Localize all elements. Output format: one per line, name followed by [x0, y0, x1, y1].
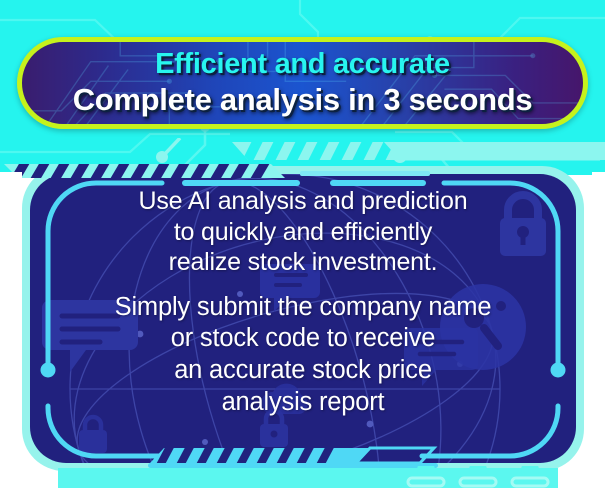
paragraph-1-line-1: Use AI analysis and prediction — [30, 186, 576, 217]
paragraph-2-line-4: analysis report — [30, 387, 576, 419]
paragraph-2: Simply submit the company name or stock … — [30, 292, 576, 420]
top-hatch-decoration — [0, 138, 605, 182]
panel-copy: Use AI analysis and prediction to quickl… — [30, 186, 576, 419]
paragraph-2-line-3: an accurate stock price — [30, 355, 576, 387]
promo-card: Efficient and accurate Complete analysis… — [0, 0, 605, 488]
bottom-accent-bar — [58, 466, 605, 488]
left-gutter — [0, 172, 22, 488]
paragraph-1-line-2: to quickly and efficiently — [30, 217, 576, 248]
paragraph-1-line-3: realize stock investment. — [30, 247, 576, 278]
right-gutter — [592, 172, 605, 488]
banner-title-line-2: Complete analysis in 3 seconds — [73, 83, 533, 117]
paragraph-2-line-2: or stock code to receive — [30, 323, 576, 355]
paragraph-1: Use AI analysis and prediction to quickl… — [30, 186, 576, 278]
banner-title-line-1: Efficient and accurate — [155, 49, 450, 80]
title-banner: Efficient and accurate Complete analysis… — [17, 37, 588, 129]
paragraph-2-line-1: Simply submit the company name — [30, 292, 576, 324]
